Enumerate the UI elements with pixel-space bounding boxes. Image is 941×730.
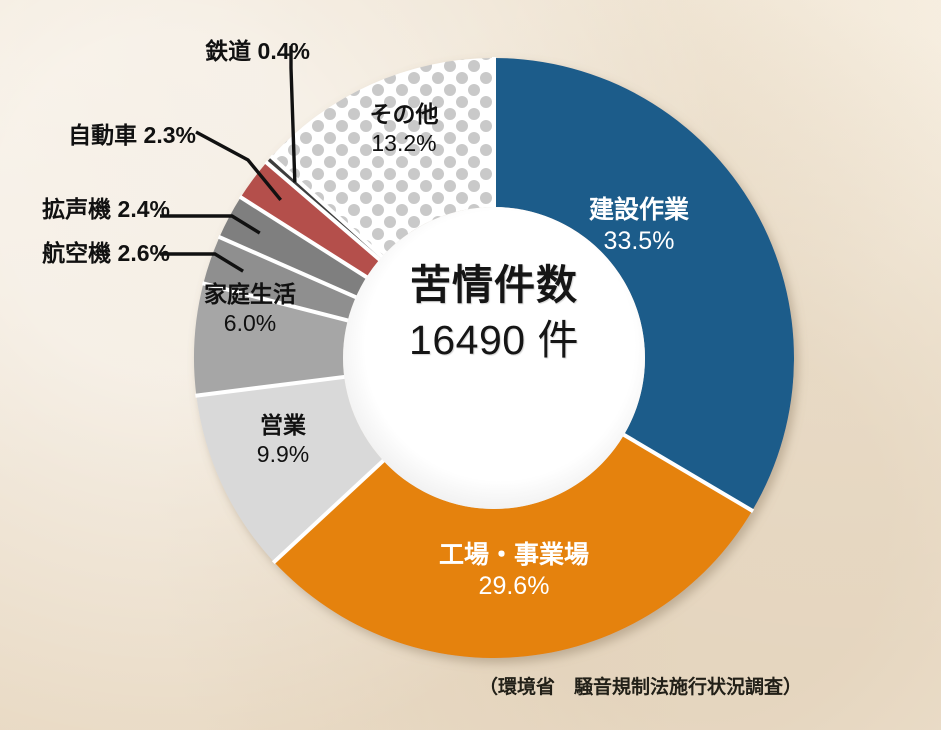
slice-label-other: その他 13.2% [334, 100, 474, 158]
center-label: 苦情件数 16490 件 [344, 262, 644, 368]
slice-label-factory-name: 工場・事業場 [399, 540, 629, 571]
source-caption: （環境省 騒音規制法施行状況調査） [0, 672, 802, 699]
slice-label-business: 営業 9.9% [218, 411, 348, 469]
center-value: 16490 件 [344, 313, 644, 368]
callout-label-railway: 鉄道 0.4% [58, 32, 310, 66]
slice-label-factory-percent: 29.6% [399, 571, 629, 602]
callout-label-automobile: 自動車 2.3% [0, 116, 196, 150]
slice-label-household: 家庭生活 6.0% [180, 280, 320, 338]
slice-label-other-percent: 13.2% [334, 129, 474, 158]
center-title: 苦情件数 [344, 262, 644, 309]
slice-label-construction: 建設作業 33.5% [544, 195, 734, 258]
slice-label-construction-name: 建設作業 [544, 195, 734, 226]
slice-label-household-name: 家庭生活 [180, 280, 320, 309]
callout-label-loudspeaker: 拡声機 2.4% [0, 190, 170, 224]
slice-label-other-name: その他 [334, 100, 474, 129]
slice-label-factory: 工場・事業場 29.6% [399, 540, 629, 603]
chart-container: 建設作業 33.5% 工場・事業場 29.6% 営業 9.9% 家庭生活 6.0… [0, 0, 941, 730]
slice-label-business-percent: 9.9% [218, 440, 348, 469]
slice-label-construction-percent: 33.5% [544, 226, 734, 257]
slice-label-household-percent: 6.0% [180, 309, 320, 338]
slice-label-business-name: 営業 [218, 411, 348, 440]
callout-label-aircraft: 航空機 2.6% [0, 234, 170, 268]
